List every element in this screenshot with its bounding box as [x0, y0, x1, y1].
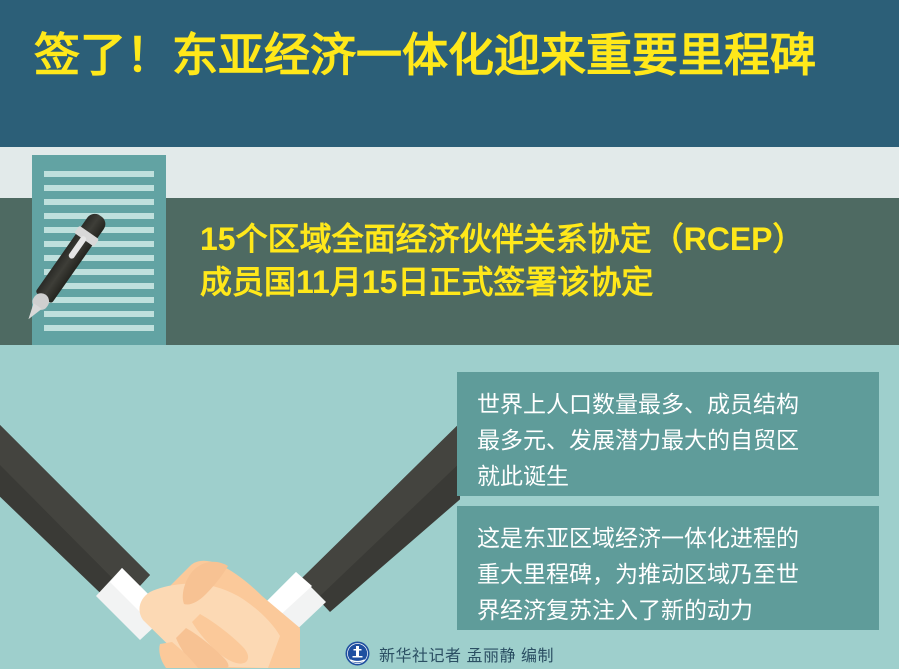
card2-line-3: 界经济复苏注入了新的动力 [477, 592, 859, 628]
xinhua-news-agency-logo-icon [345, 641, 370, 666]
infographic-poster: 签了！东亚经济一体化迎来重要里程碑 15个区域全面经济伙伴关系协定（RCEP） [0, 0, 899, 669]
subtitle-text: 15个区域全面经济伙伴关系协定（RCEP） 成员国11月15日正式签署该协定 [200, 218, 890, 304]
credit-text: 新华社记者 孟丽静 编制 [379, 642, 554, 666]
card1-line-3: 就此诞生 [477, 458, 859, 494]
footer-credit: 新华社记者 孟丽静 编制 [0, 638, 899, 669]
card1-line-1: 世界上人口数量最多、成员结构 [477, 386, 859, 422]
card-milestone-recovery: 这是东亚区域经济一体化进程的 重大里程碑，为推动区域乃至世 界经济复苏注入了新的… [457, 506, 879, 630]
subtitle-line-1: 15个区域全面经济伙伴关系协定（RCEP） [200, 218, 890, 261]
subtitle-line-2: 成员国11月15日正式签署该协定 [200, 261, 890, 304]
card1-line-2: 最多元、发展潜力最大的自贸区 [477, 422, 859, 458]
card2-line-1: 这是东亚区域经济一体化进程的 [477, 520, 859, 556]
card-largest-free-trade-zone: 世界上人口数量最多、成员结构 最多元、发展潜力最大的自贸区 就此诞生 [457, 372, 879, 496]
card2-line-2: 重大里程碑，为推动区域乃至世 [477, 556, 859, 592]
handshake-icon [0, 400, 460, 669]
document-page [32, 155, 166, 345]
page-title: 签了！东亚经济一体化迎来重要里程碑 [34, 26, 874, 84]
signed-document-icon [32, 155, 166, 345]
